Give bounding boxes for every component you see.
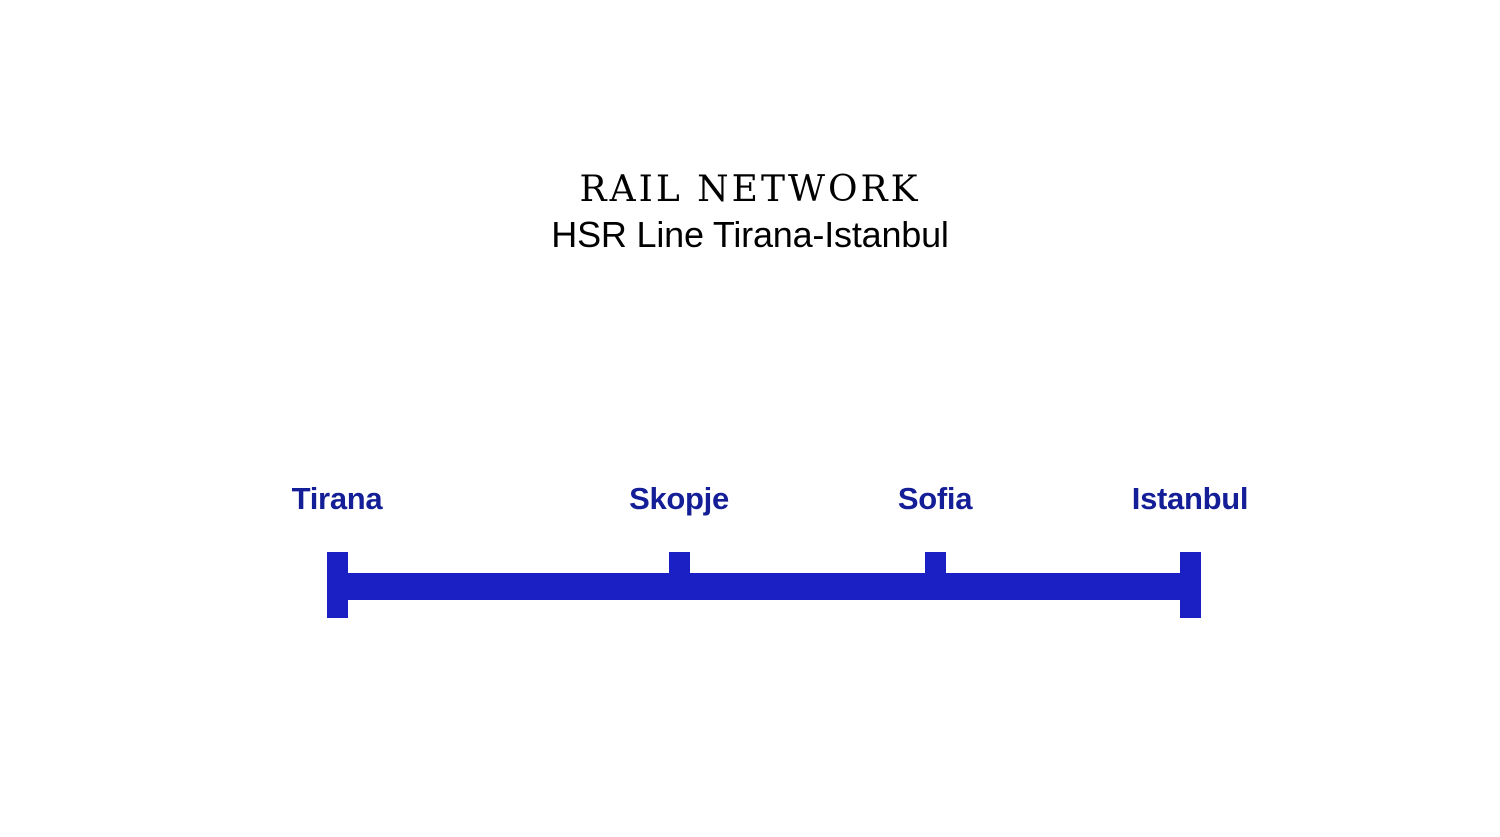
station-marker-skopje[interactable] bbox=[669, 552, 690, 574]
station-label-istanbul: Istanbul bbox=[1132, 481, 1248, 517]
station-label-sofia: Sofia bbox=[898, 481, 972, 517]
rail-network-diagram: TiranaSkopjeSofiaIstanbul bbox=[0, 0, 1500, 837]
station-label-skopje: Skopje bbox=[629, 481, 729, 517]
station-marker-tirana[interactable] bbox=[327, 552, 348, 618]
slide-canvas: RAIL NETWORK HSR Line Tirana-Istanbul Ti… bbox=[0, 0, 1500, 837]
rail-line-track bbox=[327, 573, 1199, 600]
station-label-tirana: Tirana bbox=[292, 481, 383, 517]
station-marker-istanbul[interactable] bbox=[1180, 552, 1201, 618]
station-marker-sofia[interactable] bbox=[925, 552, 946, 574]
